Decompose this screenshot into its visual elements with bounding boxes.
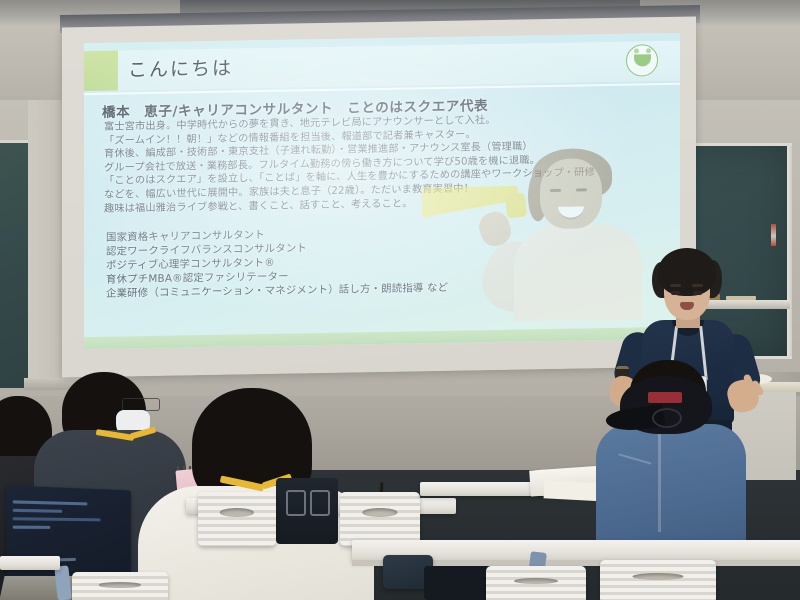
chalkboard-magnet [771,224,776,246]
slide-footer-band [84,327,680,349]
chair [340,492,420,546]
chair [486,566,586,600]
slide-qualifications-list: 国家資格キャリアコンサルタント 認定ワークライフバランスコンサルタント ポジティ… [106,225,436,301]
chair [198,492,276,546]
chair [72,572,168,600]
classroom-presentation-photo: こんにちは 橋本 恵子/キャリアコンサルタント ことのはスクエア代表 富士宮市出… [0,0,800,600]
person-in-denim-shirt [596,424,746,544]
cap-logo-icon [648,392,682,403]
desk [0,556,60,570]
slide-title: こんにちは [128,54,233,83]
desk-dock-station [276,478,338,544]
slide-title-accent-block [84,51,118,92]
chair [600,560,716,600]
cap-logo-icon [652,408,682,428]
projected-slide: こんにちは 橋本 恵子/キャリアコンサルタント ことのはスクエア代表 富士宮市出… [84,33,680,349]
